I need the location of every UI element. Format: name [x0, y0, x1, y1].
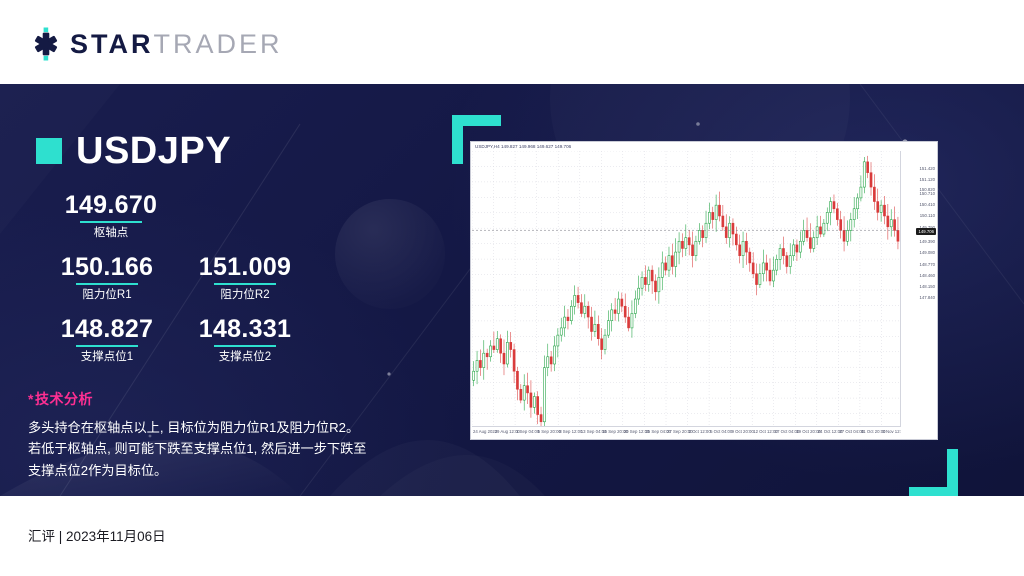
page-footer: 汇评 | 2023年11月06日 [0, 496, 1024, 576]
price-axis-tick: 150.110 [920, 213, 935, 218]
price-axis-tick: 149.080 [919, 250, 935, 255]
level-resistance-1: 150.166 阻力位R1 [48, 254, 166, 302]
analysis-line-1: 多头持仓在枢轴点以上, 目标位为阻力位R1及阻力位R2。 [28, 417, 398, 438]
chart-container: USDJPY,H4 149.827 149.968 149.627 149.70… [470, 141, 938, 446]
price-axis-tick: 151.120 [919, 177, 935, 182]
level-support-2: 148.331 支撑点位2 [186, 316, 304, 364]
time-axis-tick: 9 Oct 20:00 [732, 429, 754, 434]
level-support-1: 148.827 支撑点位1 [48, 316, 166, 364]
level-pivot-value: 149.670 [36, 192, 186, 218]
price-axis-tick: 150.410 [919, 202, 935, 207]
support-row: 148.827 支撑点位1 148.331 支撑点位2 [36, 316, 336, 364]
footer-caption: 汇评 | 2023年11月06日 [28, 525, 166, 545]
level-resistance-1-value: 150.166 [48, 254, 166, 280]
mt4-chart-header: USDJPY,H4 149.827 149.968 149.627 149.70… [471, 142, 937, 151]
footer-category: 汇评 [28, 529, 55, 544]
level-support-1-value: 148.827 [48, 316, 166, 342]
level-underline [76, 345, 138, 347]
corner-bracket-bottom-right-icon [909, 449, 958, 496]
resistance-row: 150.166 阻力位R1 151.009 阻力位R2 [36, 254, 336, 302]
square-marker-icon [36, 138, 62, 164]
time-axis-tick: 1 Sep 04:00 [516, 429, 539, 434]
level-pivot: 149.670 枢轴点 [36, 192, 186, 240]
analysis-line-3: 支撑点位2作为目标位。 [28, 460, 398, 481]
analysis-title: *技术分析 [28, 389, 398, 409]
level-underline [76, 283, 138, 285]
level-support-2-label: 支撑点位2 [186, 351, 304, 364]
pivot-row: 149.670 枢轴点 [36, 192, 336, 240]
price-axis-tick: 151.420 [919, 166, 935, 171]
level-resistance-2-value: 151.009 [186, 254, 304, 280]
time-axis-tick: 5 Sep 20:00 [538, 429, 561, 434]
level-resistance-2-label: 阻力位R2 [186, 289, 304, 302]
analysis-title-text: 技术分析 [35, 391, 93, 407]
level-resistance-1-label: 阻力位R1 [48, 289, 166, 302]
price-axis-tick: 148.770 [919, 262, 935, 267]
mt4-price-axis: 151.420151.120150.820150.710150.410150.1… [900, 151, 937, 427]
price-axis-tick: 148.150 [919, 284, 935, 289]
page-title: USDJPY [76, 132, 231, 170]
time-axis-tick: 8 Sep 12:00 [559, 429, 582, 434]
social-post-card: STAR TRADER [0, 0, 1024, 576]
level-underline [214, 283, 276, 285]
page-header: STAR TRADER [0, 0, 1024, 84]
technical-analysis-block: *技术分析 多头持仓在枢轴点以上, 目标位为阻力位R1及阻力位R2。 若低于枢轴… [28, 389, 398, 481]
price-axis-tick: 148.460 [919, 273, 935, 278]
analysis-line-2: 若低于枢轴点, 则可能下跌至支撑点位1, 然后进一步下跌至 [28, 438, 398, 459]
analysis-body: 多头持仓在枢轴点以上, 目标位为阻力位R1及阻力位R2。 若低于枢轴点, 则可能… [28, 417, 398, 481]
time-axis-tick: 5 Oct 04:00 [710, 429, 732, 434]
footer-separator: | [59, 529, 63, 544]
price-axis-tick: 150.710 [919, 191, 935, 196]
level-underline [80, 221, 142, 223]
level-support-1-label: 支撑点位1 [48, 351, 166, 364]
time-axis-tick: 3 Nov 12:00 [882, 429, 901, 434]
analysis-title-asterisk: * [28, 391, 34, 407]
mt4-plot-area[interactable] [472, 151, 901, 427]
footer-date: 2023年11月06日 [66, 529, 166, 544]
level-pivot-label: 枢轴点 [36, 227, 186, 240]
price-axis-current-label: 149.706 [916, 228, 936, 235]
time-axis-tick: 24 Aug 2023 [473, 429, 497, 434]
level-support-2-value: 148.331 [186, 316, 304, 342]
logo-text-trader: TRADER [154, 29, 283, 60]
logo-text-star: STAR [70, 29, 154, 60]
price-axis-tick: 149.390 [919, 239, 935, 244]
price-axis-tick: 147.840 [919, 295, 935, 300]
star-asterisk-icon [28, 26, 64, 62]
main-dark-panel: USDJPY 149.670 枢轴点 150.166 阻力位R1 151.00 [0, 84, 1024, 496]
level-resistance-2: 151.009 阻力位R2 [186, 254, 304, 302]
brand-logo: STAR TRADER [28, 26, 283, 62]
level-underline [214, 345, 276, 347]
pivot-levels-group: 149.670 枢轴点 150.166 阻力位R1 151.009 阻力位R2 [36, 192, 336, 364]
instrument-title-row: USDJPY [36, 132, 231, 170]
mt4-time-axis: 24 Aug 202329 Aug 12:001 Sep 04:005 Sep … [472, 426, 901, 439]
time-axis-tick: 2 Oct 12:00 [689, 429, 711, 434]
mt4-chart-window[interactable]: USDJPY,H4 149.827 149.968 149.627 149.70… [470, 141, 938, 440]
